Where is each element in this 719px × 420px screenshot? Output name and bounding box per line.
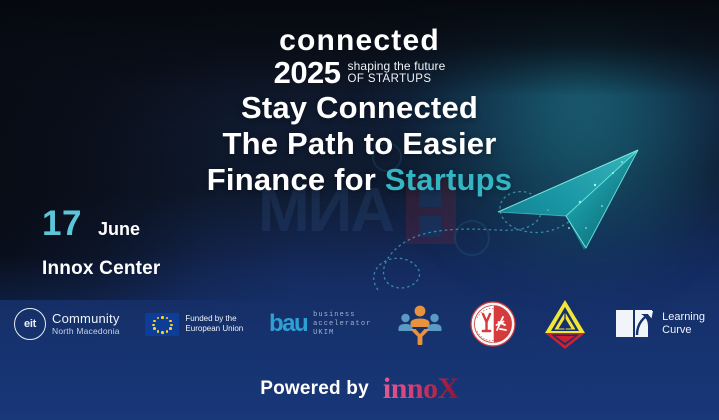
title-line-3-plain: Finance for [207,162,385,197]
partner-logo-circular-seal [469,300,517,348]
partner-logo-eit-community: eit Community North Macedonia [14,308,120,340]
innox-brand: innoX [383,374,459,404]
partner-logo-european-union: Funded by the European Union [145,313,243,336]
diamond-crystal-icon [542,298,588,350]
powered-by-label: Powered by [260,378,369,400]
eit-line-2: North Macedonia [52,326,120,337]
event-brand-lockup: connected 2025 shaping the future OF STA… [0,26,719,88]
eu-line-2: European Union [185,324,243,334]
bau-line-3: UKIM [313,329,371,338]
eit-icon: eit [14,308,46,340]
footer-powered-by: Powered by innoX [0,374,719,404]
bau-icon: bau [269,311,307,337]
lc-line-2: Curve [662,324,705,337]
event-month: June [98,218,140,240]
partner-logo-learning-curve: Learning Curve [614,304,705,344]
partner-logo-bar: eit Community North Macedonia [0,292,719,356]
title-line-3-accent: Startups [385,162,512,197]
eu-line-1: Funded by the [185,314,243,324]
title-line-3: Finance for Startups [0,162,719,198]
brand-tagline: shaping the future OF STARTUPS [348,60,446,88]
learning-curve-icon [614,304,656,344]
lc-line-1: Learning [662,311,705,324]
tagline-line-2: OF STARTUPS [348,73,446,86]
title-line-1: Stay Connected [0,90,719,126]
bau-line-1: business [313,311,371,320]
bau-text: business accelerator UKIM [313,311,371,338]
brand-connected: connected [0,26,719,56]
page-title: Stay Connected The Path to Easier Financ… [0,90,719,198]
partner-logo-diamond-crystal [542,298,588,350]
title-line-2: The Path to Easier [0,126,719,162]
event-day: 17 [42,206,82,242]
eit-text: Community North Macedonia [52,312,120,337]
event-poster: МИА [0,0,719,420]
eit-line-1: Community [52,312,120,326]
people-group-icon [397,301,443,347]
bau-line-2: accelerator [313,320,371,329]
partner-logo-business-accelerator-ukim: bau business accelerator UKIM [269,311,371,338]
eu-text: Funded by the European Union [185,314,243,334]
eu-flag-icon [145,313,179,336]
brand-year: 2025 [274,58,341,88]
circular-seal-icon [469,300,517,348]
watermark-ring [454,220,490,256]
event-date: 17 June [42,206,140,242]
partner-logo-people-group [397,301,443,347]
tagline-line-1: shaping the future [348,60,446,73]
event-venue: Innox Center [42,258,161,280]
learning-curve-text: Learning Curve [662,311,705,337]
